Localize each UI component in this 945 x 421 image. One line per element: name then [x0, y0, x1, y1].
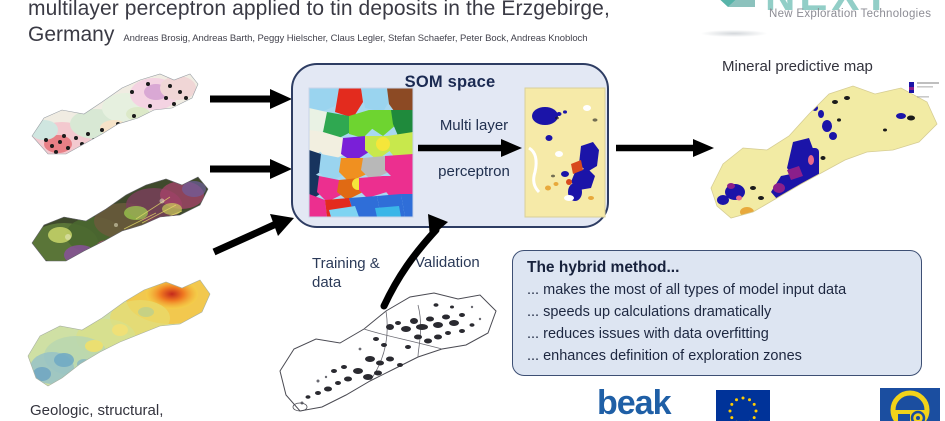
mineral-predictive-map: [705, 80, 943, 228]
page-title-line2: Germany: [28, 23, 114, 47]
hybrid-method-item: ... makes the most of all types of model…: [527, 279, 921, 301]
arrow-som-to-predictive: [616, 138, 716, 158]
arrow-mlp-horizontal: [418, 138, 524, 158]
predictive-map-caption: Mineral predictive map: [722, 58, 873, 75]
arrow-geochem-to-som: [212, 212, 298, 256]
geochemical-input-map: [20, 268, 216, 394]
page-title-line1: multilayer perceptron applied to tin dep…: [28, 0, 688, 21]
mlp-label-line2: perceptron: [424, 163, 524, 180]
next-tagline: New Exploration Technologies: [769, 8, 931, 20]
next-logo-shadow: [701, 30, 767, 37]
next-triangle-icon: [699, 0, 763, 30]
title-row-second: Germany Andreas Brosig, Andreas Barth, P…: [28, 23, 688, 47]
mlp-label-line1: Multi layer: [424, 117, 524, 134]
gtk-logo: [880, 388, 940, 421]
som-output-map: [525, 88, 605, 217]
hybrid-method-heading: The hybrid method...: [527, 259, 921, 277]
arrow-remote-to-som: [210, 158, 294, 180]
hybrid-method-item: ... speeds up calculations dramatically: [527, 301, 921, 323]
remote-sensing-input-map: [24, 163, 216, 273]
author-list: Andreas Brosig, Andreas Barth, Peggy Hie…: [123, 33, 587, 44]
geological-input-map: [22, 58, 207, 166]
arrow-geology-to-som: [210, 88, 294, 110]
hybrid-method-panel: The hybrid method... ... makes the most …: [512, 250, 922, 376]
title-block: multilayer perceptron applied to tin dep…: [28, 0, 688, 47]
poster-canvas: multilayer perceptron applied to tin dep…: [0, 0, 945, 421]
next-logo: NEXT New Exploration Technologies: [691, 0, 941, 44]
european-union-flag: [716, 390, 770, 421]
predictive-map-legend: [909, 82, 939, 100]
validation-deposit-map: [272, 285, 504, 415]
inputs-caption: Geologic, structural,: [30, 402, 163, 419]
hybrid-method-item: ... reduces issues with data overfitting: [527, 323, 921, 345]
hybrid-method-item: ... enhances definition of exploration z…: [527, 345, 921, 367]
beak-logo: beak: [597, 386, 671, 420]
